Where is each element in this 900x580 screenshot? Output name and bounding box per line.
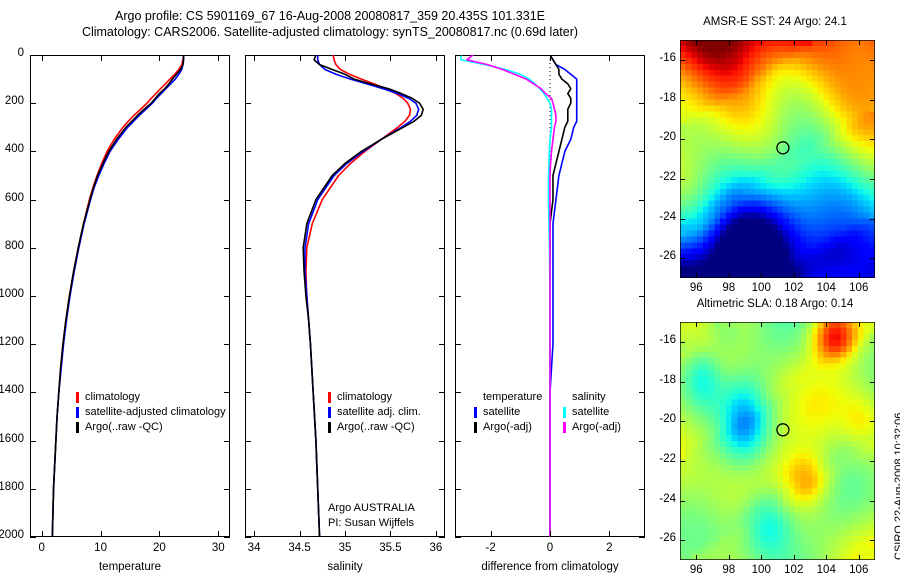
map-tick-mark (680, 100, 685, 101)
axis-tick-mark (30, 200, 36, 201)
map-lat-label: -24 (650, 493, 676, 505)
temperature-legend: climatologysatellite-adjusted climatolog… (76, 390, 236, 435)
axis-tick-mark (224, 151, 230, 152)
axis-tick-mark (455, 537, 461, 538)
legend-color-swatch (76, 422, 79, 433)
map-tick-mark (870, 540, 875, 541)
axis-tick-mark (101, 55, 102, 61)
axis-tick-mark (245, 200, 251, 201)
map-tick-mark (870, 258, 875, 259)
map-tick-mark (859, 40, 860, 45)
map-tick-mark (870, 342, 875, 343)
axis-tick-mark (439, 537, 445, 538)
depth-tick-label: 0 (0, 47, 24, 59)
sst-map-title: AMSR-E SST: 24 Argo: 24.1 (660, 16, 890, 28)
axis-tick-mark (436, 531, 437, 537)
axis-tick-mark (455, 103, 461, 104)
axis-tick-mark (609, 55, 610, 61)
map-tick-mark (680, 219, 685, 220)
axis-tick-mark (30, 537, 36, 538)
map-lat-label: -16 (650, 334, 676, 346)
axis-tick-mark (245, 344, 251, 345)
legend-entry: satellite (563, 405, 621, 420)
sla-map-canvas (680, 322, 875, 560)
map-tick-mark (870, 421, 875, 422)
axis-tick-mark (439, 392, 445, 393)
map-tick-mark (680, 139, 685, 140)
map-tick-mark (859, 322, 860, 327)
map-tick-mark (870, 501, 875, 502)
map-tick-mark (729, 555, 730, 560)
axis-tick-mark (224, 489, 230, 490)
axis-tick-label: -2 (461, 542, 521, 554)
axis-tick-mark (218, 531, 219, 537)
axis-tick-label: 2 (579, 542, 639, 554)
map-lon-label: 106 (839, 564, 879, 576)
legend-entry: Argo(..raw -QC) (76, 420, 236, 435)
depth-tick-label: 1600 (0, 433, 24, 445)
axis-tick-mark (245, 55, 251, 56)
map-lon-label: 106 (839, 282, 879, 294)
map-tick-mark (680, 461, 685, 462)
axis-tick-mark (550, 55, 551, 61)
legend-label: satellite-adjusted climatology (85, 405, 226, 420)
legend-label: satellite (572, 405, 609, 420)
map-tick-mark (761, 40, 762, 45)
axis-tick-mark (245, 392, 251, 393)
axis-tick-mark (439, 151, 445, 152)
axis-tick-mark (42, 531, 43, 537)
legend-color-swatch (474, 422, 477, 433)
legend-color-swatch (328, 392, 331, 403)
figure-title: Argo profile: CS 5901169_67 16-Aug-2008 … (0, 8, 660, 40)
map-tick-mark (870, 139, 875, 140)
legend-entry: Argo(-adj) (474, 420, 542, 435)
legend-entry: satellite-adjusted climatology (76, 405, 236, 420)
temperature-plot-canvas (30, 55, 230, 537)
difference-legend-salinity: salinitysatelliteArgo(-adj) (563, 390, 621, 435)
map-lat-label: -18 (650, 374, 676, 386)
map-tick-mark (680, 258, 685, 259)
axis-tick-mark (436, 55, 437, 61)
depth-tick-label: 1000 (0, 288, 24, 300)
axis-tick-mark (455, 441, 461, 442)
axis-tick-mark (245, 151, 251, 152)
axis-tick-mark (609, 531, 610, 537)
axis-tick-mark (639, 441, 645, 442)
map-tick-mark (870, 60, 875, 61)
map-tick-mark (826, 555, 827, 560)
map-tick-mark (696, 555, 697, 560)
argo-profile-figure: Argo profile: CS 5901169_67 16-Aug-2008 … (0, 0, 900, 580)
map-lat-label: -26 (650, 250, 676, 262)
axis-tick-mark (455, 151, 461, 152)
axis-tick-mark (159, 531, 160, 537)
map-tick-mark (859, 555, 860, 560)
axis-tick-mark (101, 531, 102, 537)
legend-label: Argo(-adj) (572, 420, 621, 435)
axis-tick-mark (639, 392, 645, 393)
axis-tick-mark (439, 344, 445, 345)
legend-label: Argo(..raw -QC) (85, 420, 163, 435)
map-tick-mark (680, 342, 685, 343)
map-tick-mark (794, 555, 795, 560)
legend-color-swatch (328, 422, 331, 433)
depth-tick-label: 400 (0, 143, 24, 155)
axis-tick-mark (30, 248, 36, 249)
axis-tick-mark (30, 103, 36, 104)
axis-tick-mark (455, 55, 461, 56)
map-tick-mark (680, 382, 685, 383)
map-tick-mark (870, 219, 875, 220)
map-tick-mark (794, 40, 795, 45)
legend-color-swatch (328, 407, 331, 418)
legend-entry: climatology (328, 390, 421, 405)
axis-tick-mark (455, 392, 461, 393)
axis-tick-mark (42, 55, 43, 61)
axis-tick-mark (224, 296, 230, 297)
difference-axis-label: difference from climatology (440, 561, 660, 573)
map-lat-label: -16 (650, 52, 676, 64)
map-tick-mark (729, 40, 730, 45)
axis-tick-mark (639, 344, 645, 345)
axis-tick-mark (245, 537, 251, 538)
depth-tick-label: 1400 (0, 384, 24, 396)
axis-tick-mark (30, 344, 36, 345)
map-tick-mark (729, 322, 730, 327)
map-tick-mark (826, 273, 827, 278)
axis-tick-mark (390, 55, 391, 61)
depth-tick-label: 800 (0, 240, 24, 252)
legend-label: satellite adj. clim. (337, 405, 421, 420)
axis-tick-mark (455, 296, 461, 297)
map-lat-label: -22 (650, 171, 676, 183)
axis-tick-mark (439, 441, 445, 442)
axis-tick-mark (30, 296, 36, 297)
axis-tick-mark (30, 489, 36, 490)
legend-entry: climatology (76, 390, 236, 405)
map-lat-label: -26 (650, 532, 676, 544)
axis-tick-mark (345, 531, 346, 537)
legend-label: satellite (483, 405, 520, 420)
axis-tick-mark (224, 537, 230, 538)
axis-tick-mark (254, 55, 255, 61)
axis-tick-mark (300, 55, 301, 61)
axis-tick-mark (455, 489, 461, 490)
axis-tick-label: 36 (406, 542, 466, 554)
map-tick-mark (680, 179, 685, 180)
axis-tick-mark (639, 296, 645, 297)
axis-tick-mark (245, 489, 251, 490)
sst-map-canvas (680, 40, 875, 278)
legend-color-swatch (563, 422, 566, 433)
map-tick-mark (680, 540, 685, 541)
axis-tick-mark (224, 248, 230, 249)
legend-entry: satellite adj. clim. (328, 405, 421, 420)
axis-tick-mark (639, 200, 645, 201)
axis-tick-mark (639, 103, 645, 104)
axis-tick-mark (439, 55, 445, 56)
axis-tick-mark (439, 248, 445, 249)
axis-tick-mark (224, 55, 230, 56)
axis-tick-mark (245, 103, 251, 104)
axis-tick-mark (300, 531, 301, 537)
map-tick-mark (870, 179, 875, 180)
legend-color-swatch (474, 407, 477, 418)
salinity-legend: climatologysatellite adj. clim.Argo(..ra… (328, 390, 421, 435)
legend-entry: satellite (474, 405, 542, 420)
difference-legend-temperature: temperaturesatelliteArgo(-adj) (474, 390, 542, 435)
title-line-1: Argo profile: CS 5901169_67 16-Aug-2008 … (0, 8, 660, 24)
axis-tick-mark (224, 200, 230, 201)
axis-tick-mark (491, 55, 492, 61)
axis-tick-mark (245, 296, 251, 297)
axis-tick-mark (245, 248, 251, 249)
axis-tick-mark (550, 531, 551, 537)
axis-tick-mark (491, 531, 492, 537)
map-lat-label: -20 (650, 413, 676, 425)
legend-heading: temperature (474, 390, 542, 405)
axis-tick-mark (218, 55, 219, 61)
axis-tick-mark (390, 531, 391, 537)
depth-tick-label: 1800 (0, 481, 24, 493)
legend-label: climatology (337, 390, 392, 405)
depth-tick-label: 200 (0, 95, 24, 107)
map-tick-mark (729, 273, 730, 278)
map-tick-mark (761, 555, 762, 560)
title-line-2: Climatology: CARS2006. Satellite-adjuste… (0, 24, 660, 40)
legend-entry: Argo(-adj) (563, 420, 621, 435)
map-tick-mark (794, 322, 795, 327)
axis-tick-label: 10 (71, 542, 131, 554)
depth-tick-label: 1200 (0, 336, 24, 348)
map-tick-mark (870, 461, 875, 462)
legend-label: Argo(..raw -QC) (337, 420, 415, 435)
axis-tick-mark (639, 248, 645, 249)
temperature-axis-label: temperature (30, 561, 230, 573)
credit-block: Argo AUSTRALIA PI: Susan Wijffels (328, 501, 415, 531)
legend-color-swatch (563, 407, 566, 418)
depth-tick-label: 2000 (0, 529, 24, 541)
axis-tick-mark (439, 296, 445, 297)
axis-tick-mark (345, 55, 346, 61)
map-tick-mark (696, 273, 697, 278)
axis-tick-mark (30, 392, 36, 393)
map-tick-mark (870, 382, 875, 383)
axis-tick-mark (639, 151, 645, 152)
map-lat-label: -24 (650, 211, 676, 223)
axis-tick-mark (159, 55, 160, 61)
map-tick-mark (761, 273, 762, 278)
salinity-axis-label: salinity (245, 561, 445, 573)
map-tick-mark (696, 40, 697, 45)
axis-tick-mark (30, 151, 36, 152)
axis-tick-mark (439, 103, 445, 104)
csiro-timestamp: CSIRO 22-Aug-2008 10:32:06 (893, 413, 900, 560)
map-tick-mark (680, 60, 685, 61)
map-tick-mark (870, 100, 875, 101)
legend-heading: salinity (563, 390, 621, 405)
depth-tick-label: 600 (0, 192, 24, 204)
map-tick-mark (794, 273, 795, 278)
axis-tick-label: 0 (520, 542, 580, 554)
axis-tick-mark (639, 55, 645, 56)
legend-entry: Argo(..raw -QC) (328, 420, 421, 435)
map-tick-mark (696, 322, 697, 327)
axis-tick-mark (455, 200, 461, 201)
axis-tick-mark (30, 55, 36, 56)
difference-plot-canvas (455, 55, 645, 537)
axis-tick-label: 0 (12, 542, 72, 554)
map-lat-label: -22 (650, 453, 676, 465)
map-tick-mark (761, 322, 762, 327)
legend-color-swatch (76, 392, 79, 403)
axis-tick-mark (439, 489, 445, 490)
axis-tick-label: 20 (129, 542, 189, 554)
map-tick-mark (826, 40, 827, 45)
axis-tick-mark (639, 537, 645, 538)
credit-org: Argo AUSTRALIA (328, 501, 415, 516)
axis-tick-mark (30, 441, 36, 442)
axis-tick-mark (224, 441, 230, 442)
credit-pi: PI: Susan Wijffels (328, 516, 415, 531)
axis-tick-mark (245, 441, 251, 442)
map-lat-label: -20 (650, 131, 676, 143)
map-lat-label: -18 (650, 92, 676, 104)
legend-label: climatology (85, 390, 140, 405)
legend-color-swatch (76, 407, 79, 418)
map-tick-mark (859, 273, 860, 278)
map-tick-mark (680, 421, 685, 422)
axis-tick-mark (439, 200, 445, 201)
axis-tick-mark (455, 344, 461, 345)
salinity-plot-canvas (245, 55, 445, 537)
axis-tick-mark (224, 103, 230, 104)
legend-label: Argo(-adj) (483, 420, 532, 435)
map-tick-mark (826, 322, 827, 327)
axis-tick-mark (639, 489, 645, 490)
map-tick-mark (680, 501, 685, 502)
sla-map-title: Altimetric SLA: 0.18 Argo: 0.14 (660, 298, 890, 310)
axis-tick-mark (254, 531, 255, 537)
axis-tick-mark (455, 248, 461, 249)
axis-tick-mark (224, 344, 230, 345)
